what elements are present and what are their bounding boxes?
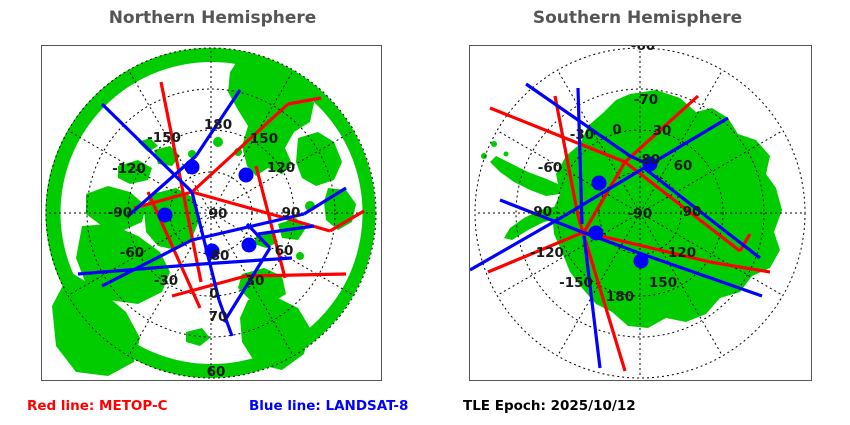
- grid-label-0: 0: [612, 122, 621, 138]
- satellite-marker: [239, 168, 254, 183]
- grid-label-150: 150: [649, 275, 677, 291]
- northern-hemisphere-panel: Northern Hemisphere: [0, 0, 425, 425]
- grid-label-60: 60: [275, 243, 294, 259]
- legend-red-line: Red line: METOP-C: [27, 398, 168, 414]
- grid-label-neg120: -120: [112, 161, 146, 177]
- northern-hemisphere-map: 180 -150 150 -120 120 -90 90 -60 60 -30 …: [42, 46, 381, 380]
- grid-label-180: 180: [204, 117, 232, 133]
- legend-tle-epoch: TLE Epoch: 2025/10/12: [463, 398, 636, 414]
- southern-hemisphere-plot[interactable]: -60 -70 -80 -90 0 30 -30 60 -60 90 -90 1…: [469, 45, 812, 381]
- page-title-southern: Southern Hemisphere: [425, 8, 850, 28]
- grid-label-neg90: -90: [528, 204, 552, 220]
- grid-label-lat60: 60: [207, 364, 226, 380]
- grid-label-30: 30: [653, 123, 672, 139]
- page-title-northern: Northern Hemisphere: [0, 8, 425, 28]
- satellite-marker: [592, 176, 607, 191]
- grid-label-lat90: 90: [209, 206, 228, 222]
- northern-hemisphere-plot[interactable]: 180 -150 150 -120 120 -90 90 -60 60 -30 …: [41, 45, 382, 381]
- satellite-marker: [589, 226, 604, 241]
- grid-label-lat-neg70: -70: [634, 92, 658, 108]
- grid-label-neg90: -90: [108, 205, 132, 221]
- grid-label-lat-neg60: -60: [631, 46, 655, 54]
- southern-hemisphere-panel: Southern Hemisphere: [425, 0, 850, 425]
- grid-label-lat70: 70: [209, 309, 228, 325]
- grid-label-60: 60: [674, 158, 693, 174]
- grid-label-30: 30: [246, 273, 265, 289]
- grid-label-150: 150: [250, 131, 278, 147]
- grid-label-neg60: -60: [120, 245, 144, 261]
- grid-label-0: 0: [209, 286, 218, 302]
- grid-label-neg30: -30: [154, 273, 178, 289]
- satellite-marker: [185, 160, 200, 175]
- grid-label-120: 120: [668, 245, 696, 261]
- grid-label-neg150: -150: [147, 130, 181, 146]
- grid-label-90: 90: [683, 204, 702, 220]
- grid-label-120: 120: [267, 160, 295, 176]
- grid-label-lat-neg80: -80: [636, 152, 660, 168]
- satellite-marker: [158, 208, 173, 223]
- southern-hemisphere-map: -60 -70 -80 -90 0 30 -30 60 -60 90 -90 1…: [470, 46, 811, 380]
- grid-label-lat-neg90: -90: [628, 206, 652, 222]
- grid-label-90: 90: [282, 205, 301, 221]
- satellite-marker: [242, 238, 257, 253]
- legend-blue-line: Blue line: LANDSAT-8: [249, 398, 408, 414]
- grid-label-neg60: -60: [538, 160, 562, 176]
- satellite-marker: [634, 254, 649, 269]
- grid-label-180: 180: [606, 289, 634, 305]
- grid-label-neg30: -30: [570, 127, 594, 143]
- grid-label-neg150: -150: [559, 275, 593, 291]
- grid-label-lat80: 80: [211, 248, 230, 264]
- grid-label-neg120: -120: [530, 245, 564, 261]
